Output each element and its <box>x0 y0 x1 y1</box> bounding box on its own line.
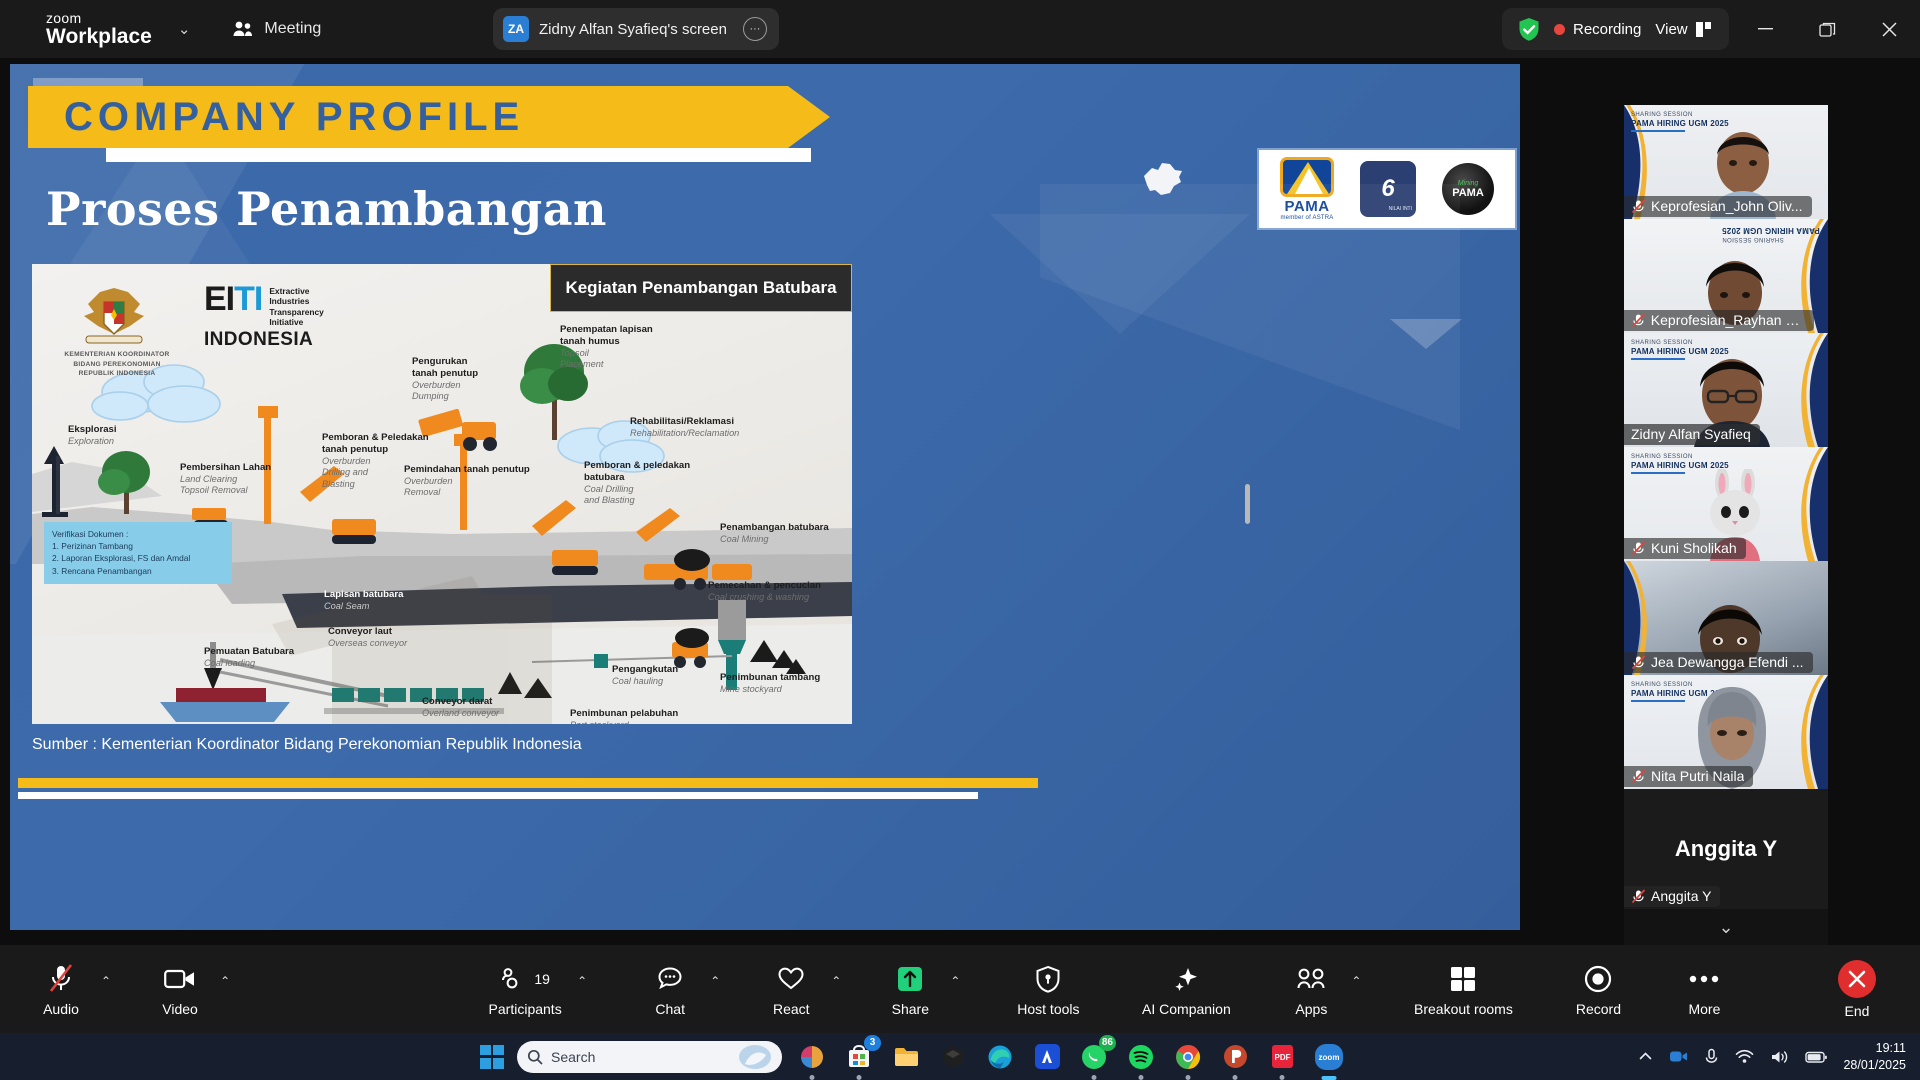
search-icon <box>527 1049 543 1065</box>
participants-group: 19 Participants ⌃ <box>478 962 587 1017</box>
participants-count: 19 <box>534 971 550 987</box>
source-caption: Sumber : Kementerian Koordinator Bidang … <box>32 736 582 754</box>
video-options-caret[interactable]: ⌃ <box>220 974 230 988</box>
tile-name-plate: Jea Dewangga Efendi ... <box>1624 652 1813 673</box>
label-penimbunan-tambang-id: Penimbunan tambang <box>720 672 820 684</box>
file-explorer-icon[interactable] <box>889 1040 923 1074</box>
more-options-icon[interactable]: ··· <box>743 17 767 41</box>
people-icon <box>232 20 254 38</box>
end-call-icon <box>1838 960 1876 998</box>
infographic-banner: Kegiatan Penambangan Batubara <box>550 264 852 312</box>
participant-tile[interactable]: SHARING SESSION PAMA HIRING UGM 2025 Kun… <box>1624 447 1828 561</box>
microphone-muted-icon <box>1631 313 1646 328</box>
ai-companion-label: AI Companion <box>1142 1001 1231 1017</box>
label-penambangan-id: Penambangan batubara <box>720 522 829 534</box>
breakout-rooms-label: Breakout rooms <box>1414 1001 1513 1017</box>
participant-tile[interactable]: SHARING SESSION PAMA HIRING UGM 2025 Nit… <box>1624 675 1828 789</box>
share-chip-label: Zidny Alfan Syafieq's screen <box>539 21 727 38</box>
brand-zoom-text: zoom <box>46 11 152 25</box>
whatsapp-icon[interactable]: 86 <box>1077 1040 1111 1074</box>
svg-text:PDF: PDF <box>1274 1053 1290 1062</box>
session-underline <box>1631 130 1685 132</box>
label-penimbunan-tambang: Penimbunan tambang Mine stockyard <box>720 672 820 695</box>
zoom-icon[interactable]: zoom <box>1312 1040 1346 1074</box>
powerpoint-icon[interactable] <box>1218 1040 1252 1074</box>
brand-swoosh-icon <box>1776 675 1828 789</box>
decor-triangle-2 <box>1390 319 1462 349</box>
participant-name: Keprofesian_Rayhan D... <box>1651 312 1805 328</box>
scroll-grip-handle[interactable] <box>1245 484 1250 524</box>
eiti-acronym: EITI <box>204 284 262 315</box>
recording-dot-icon <box>1554 24 1565 35</box>
zoom-title-bar: zoom Workplace ⌄ Meeting ZA Zidny Alfan … <box>0 0 1920 58</box>
window-controls <box>1734 0 1920 58</box>
participant-name: Zidny Alfan Syafieq <box>1631 426 1751 442</box>
search-placeholder: Search <box>551 1049 595 1065</box>
record-icon <box>1584 962 1612 996</box>
apps-options-caret[interactable]: ⌃ <box>1351 974 1361 988</box>
meeting-tab[interactable]: Meeting <box>232 20 321 38</box>
heart-icon <box>777 962 805 996</box>
label-pemecahan-id: Pemecahan & pencucian <box>708 580 821 592</box>
view-button[interactable]: View <box>1655 21 1712 38</box>
label-conveyor-darat-en: Overland conveyor <box>422 708 499 720</box>
label-conveyor-darat-id: Conveyor darat <box>422 696 499 708</box>
audio-label: Audio <box>43 1001 79 1017</box>
react-options-caret[interactable]: ⌃ <box>831 974 841 988</box>
breakout-rooms-icon <box>1449 962 1477 996</box>
label-pembersihan-en: Land Clearing Topsoil Removal <box>180 474 271 497</box>
autocad-icon[interactable] <box>1030 1040 1064 1074</box>
nilai-inti-logo: 6 NILAI INTI <box>1360 161 1416 217</box>
microphone-muted-icon <box>1631 541 1646 556</box>
end-label: End <box>1845 1003 1870 1019</box>
microphone-muted-icon <box>48 962 74 996</box>
share-options-caret[interactable]: ⌃ <box>950 974 960 988</box>
taskbar-clock[interactable]: 19:11 28/01/2025 <box>1843 1040 1906 1074</box>
audio-button[interactable]: Audio <box>26 962 96 1017</box>
microphone-muted-icon <box>1631 655 1646 670</box>
label-pemuatan-id: Pemuatan Batubara <box>204 646 294 658</box>
share-avatar: ZA <box>503 16 529 42</box>
spotify-icon[interactable] <box>1124 1040 1158 1074</box>
eiti-country: INDONESIA <box>204 329 324 351</box>
react-button[interactable]: React <box>756 962 826 1017</box>
running-indicator <box>1280 1075 1285 1080</box>
photos-icon[interactable] <box>795 1040 829 1074</box>
microphone-muted-icon <box>1631 889 1646 904</box>
label-pemboran-batubara: Pemboran & peledakan batubara Coal Drill… <box>584 460 690 507</box>
record-label: Record <box>1576 1001 1621 1017</box>
participants-label: Participants <box>489 1001 562 1017</box>
battery-icon[interactable] <box>1805 1050 1827 1064</box>
layout-icon <box>1696 22 1713 37</box>
more-label: More <box>1688 1001 1720 1017</box>
label-pemecahan-en: Coal crushing & washing <box>708 592 821 604</box>
label-eksplorasi-id: Eksplorasi <box>68 424 117 436</box>
mining-pama-text: PAMA <box>1452 187 1484 199</box>
session-underline <box>1631 472 1685 474</box>
running-indicator <box>857 1075 862 1080</box>
running-indicator <box>1092 1075 1097 1080</box>
share-label: Share <box>892 1001 929 1017</box>
zoom-tray-icon[interactable] <box>1669 1048 1688 1065</box>
label-penimbunan-tambang-en: Mine stockyard <box>720 684 820 696</box>
brand-swoosh-icon <box>1776 333 1828 447</box>
wifi-icon[interactable] <box>1735 1049 1754 1064</box>
label-pemuatan-en: Coal loading <box>204 658 294 670</box>
mining-top-text: Mining <box>1458 180 1479 187</box>
label-pemboran-batubara-id: Pemboran & peledakan batubara <box>584 460 690 484</box>
apps-icon <box>1296 962 1326 996</box>
svg-text:zoom: zoom <box>1319 1053 1340 1062</box>
participant-video-strip: SHARING SESSION PAMA HIRING UGM 2025 Kep… <box>1624 105 1828 945</box>
label-penambangan-batubara: Penambangan batubara Coal Mining <box>720 522 829 545</box>
participant-name: Jea Dewangga Efendi ... <box>1651 654 1804 670</box>
share-screen-icon <box>895 962 925 996</box>
strip-scroll-down-button[interactable]: ⌄ <box>1624 909 1828 945</box>
label-conveyor-laut-id: Conveyor laut <box>328 626 407 638</box>
volume-icon[interactable] <box>1770 1049 1789 1065</box>
shared-screen-chip[interactable]: ZA Zidny Alfan Syafieq's screen ··· <box>493 8 779 50</box>
show-hidden-icons-button[interactable] <box>1638 1049 1653 1064</box>
running-indicator <box>1139 1075 1144 1080</box>
zoom-meeting-toolbar: Audio ⌃ Video ⌃ 19 <box>0 945 1920 1033</box>
meeting-status-group: Recording View <box>1502 8 1729 50</box>
document-verification-box: Verifikasi Dokumen : 1. Perizinan Tamban… <box>44 522 232 584</box>
microphone-tray-icon[interactable] <box>1704 1048 1719 1066</box>
session-line-2: PAMA HIRING UGM 2025 <box>1722 226 1820 235</box>
chat-button[interactable]: Chat <box>635 962 705 1017</box>
label-penimbunan-pelabuhan: Penimbunan pelabuhan Port stockyard <box>570 708 678 724</box>
apps-label: Apps <box>1295 1001 1327 1017</box>
eiti-logo: EITI ExtractiveIndustriesTransparencyIni… <box>204 284 324 351</box>
chat-group: Chat ⌃ <box>635 962 720 1017</box>
camera-icon <box>164 962 196 996</box>
session-line-1: SHARING SESSION <box>1631 112 1729 119</box>
verification-item-1: 1. Perizinan Tambang <box>52 540 224 552</box>
tile-name-plate: Keprofesian_Rayhan D... <box>1624 310 1814 331</box>
tile-name-plate: Anggita Y <box>1624 886 1720 907</box>
label-pemboran-tanah-id: Pemboran & Peledakan tanah penutup <box>322 432 429 456</box>
host-tools-button[interactable]: Host tools <box>1002 962 1094 1017</box>
participant-tile[interactable]: SHARING SESSION PAMA HIRING UGM 2025 Kep… <box>1624 219 1828 333</box>
label-penempatan-en: Topsoil Placement <box>560 348 653 371</box>
label-penempatan-id: Penempatan lapisan tanah humus <box>560 324 653 348</box>
label-pengurukan-en: Overburden Dumping <box>412 380 478 403</box>
react-group: React ⌃ <box>756 962 841 1017</box>
search-highlight-image <box>738 1044 772 1070</box>
chevron-down-icon: ⌄ <box>1718 917 1733 938</box>
encryption-shield-icon[interactable] <box>1518 17 1540 42</box>
label-pengurukan-id: Pengurukan tanah penutup <box>412 356 478 380</box>
taskbar-apps: Search 3 <box>480 1040 1346 1074</box>
company-profile-banner: COMPANY PROFILE <box>28 86 788 148</box>
clock-time: 19:11 <box>1843 1040 1906 1057</box>
chat-icon <box>657 962 683 996</box>
label-pemecahan: Pemecahan & pencucian Coal crushing & wa… <box>708 580 821 603</box>
infographic-banner-text: Kegiatan Penambangan Batubara <box>565 278 836 298</box>
eiti-expansion: ExtractiveIndustriesTransparencyInitiati… <box>269 284 323 327</box>
nilai-inti-label: NILAI INTI <box>1389 206 1412 212</box>
video-button[interactable]: Video <box>145 962 215 1017</box>
footer-white-bar <box>18 792 978 799</box>
label-pembersihan-id: Pembersihan Lahan <box>180 462 271 474</box>
audio-options-caret[interactable]: ⌃ <box>101 974 111 988</box>
shield-icon <box>1035 962 1061 996</box>
label-conveyor-laut: Conveyor laut Overseas conveyor <box>328 626 407 649</box>
label-eksplorasi: Eksplorasi Exploration <box>68 424 117 447</box>
borneo-map-icon <box>1138 156 1188 202</box>
tile-name-plate: Zidny Alfan Syafieq <box>1624 424 1760 445</box>
label-penimbunan-pel-id: Penimbunan pelabuhan <box>570 708 678 720</box>
presentation-slide: COMPANY PROFILE Proses Penambangan PAMA … <box>10 64 1520 930</box>
verification-title: Verifikasi Dokumen : <box>52 528 224 540</box>
recording-label: Recording <box>1573 21 1641 38</box>
more-dots-icon <box>1688 962 1720 996</box>
store-badge-count: 3 <box>864 1035 881 1051</box>
view-label: View <box>1655 21 1687 38</box>
participant-display-name: Anggita Y <box>1675 836 1777 862</box>
pama-logo-subtext: member of ASTRA <box>1280 215 1333 221</box>
participant-name: Anggita Y <box>1651 888 1711 904</box>
edge-icon[interactable] <box>983 1040 1017 1074</box>
running-indicator <box>810 1075 815 1080</box>
logo-box: PAMA member of ASTRA 6 NILAI INTI Mining… <box>1257 148 1517 230</box>
participant-name: Kuni Sholikah <box>1651 540 1737 556</box>
zoom-workplace-logo: zoom Workplace <box>46 11 152 47</box>
participant-tile[interactable]: Anggita Y Anggita Y <box>1624 789 1828 909</box>
session-line-1: SHARING SESSION <box>1631 454 1729 461</box>
ai-companion-button[interactable]: AI Companion <box>1130 962 1242 1017</box>
chrome-icon[interactable] <box>1171 1040 1205 1074</box>
label-conveyor-laut-en: Overseas conveyor <box>328 638 407 650</box>
react-label: React <box>773 1001 810 1017</box>
label-pemboran-batubara-en: Coal Drilling and Blasting <box>584 484 690 507</box>
meeting-label: Meeting <box>264 20 321 38</box>
label-eksplorasi-en: Exploration <box>68 436 117 448</box>
session-line-1: SHARING SESSION <box>1722 235 1820 242</box>
label-conveyor-darat: Conveyor darat Overland conveyor <box>422 696 499 719</box>
tile-name-plate: Nita Putri Naila <box>1624 766 1753 787</box>
brand-swoosh-icon <box>1776 447 1828 561</box>
windows-taskbar: Search 3 <box>0 1033 1920 1080</box>
whatsapp-badge-count: 86 <box>1099 1035 1116 1051</box>
search-input[interactable]: Search <box>517 1041 782 1073</box>
pama-logo: PAMA member of ASTRA <box>1280 157 1334 221</box>
more-button[interactable]: More <box>1669 962 1739 1017</box>
label-rehabilitasi-en: Rehabilitation/Reclamation <box>630 428 739 440</box>
record-button[interactable]: Record <box>1557 962 1639 1017</box>
label-pengangkutan: Pengangkutan Coal hauling <box>612 664 678 687</box>
label-pengangkutan-id: Pengangkutan <box>612 664 678 676</box>
brand-workplace-text: Workplace <box>46 26 152 47</box>
mining-process-infographic: Kegiatan Penambangan Batubara KEMENTERIA… <box>32 264 852 724</box>
label-pengangkutan-en: Coal hauling <box>612 676 678 688</box>
shared-screen-stage: COMPANY PROFILE Proses Penambangan PAMA … <box>10 58 1520 928</box>
mining-pama-logo: Mining PAMA <box>1442 163 1494 215</box>
banner-arrow-tip <box>788 86 830 148</box>
footer-yellow-bar <box>18 778 1038 788</box>
minimize-button[interactable] <box>1734 0 1796 58</box>
apps-group: Apps ⌃ <box>1276 962 1361 1017</box>
label-pemuatan-batubara: Pemuatan Batubara Coal loading <box>204 646 294 669</box>
chat-label: Chat <box>655 1001 685 1017</box>
tile-name-plate: Kuni Sholikah <box>1624 538 1746 559</box>
banner-white-underline <box>106 148 811 162</box>
participant-name: Nita Putri Naila <box>1651 768 1744 784</box>
audio-group: Audio ⌃ <box>26 962 111 1017</box>
running-indicator <box>1233 1075 1238 1080</box>
running-indicator <box>1186 1075 1191 1080</box>
clock-date: 28/01/2025 <box>1843 1057 1906 1074</box>
label-pemindahan: Pemindahan tanah penutup Overburden Remo… <box>404 464 530 499</box>
participant-name: Keprofesian_John Oliv... <box>1651 198 1803 214</box>
active-window-indicator <box>1322 1076 1337 1080</box>
label-penimbunan-pel-en: Port stockyard <box>570 720 678 724</box>
ministry-caption: KEMENTERIAN KOORDINATORBIDANG PEREKONOMI… <box>42 350 192 379</box>
share-group: Share ⌃ <box>875 962 960 1017</box>
label-lapisan-id: Lapisan batubara <box>324 589 403 601</box>
verification-item-3: 3. Rencana Penambangan <box>52 565 224 577</box>
microsoft-store-icon[interactable]: 3 <box>842 1040 876 1074</box>
video-group: Video ⌃ <box>145 962 230 1017</box>
label-rehabilitasi-id: Rehabilitasi/Reklamasi <box>630 416 739 428</box>
banner-yellow-bar: COMPANY PROFILE <box>28 86 788 148</box>
system-tray: 19:11 28/01/2025 <box>1638 1040 1906 1074</box>
breakout-rooms-button[interactable]: Breakout rooms <box>1395 962 1531 1017</box>
tile-session-header: SHARING SESSION PAMA HIRING UGM 2025 <box>1722 226 1820 242</box>
chevron-down-icon[interactable]: ⌄ <box>178 20 191 38</box>
pama-mark-icon <box>1280 157 1334 197</box>
close-button[interactable] <box>1858 0 1920 58</box>
tile-name-plate: Keprofesian_John Oliv... <box>1624 196 1812 217</box>
participants-icon: 19 <box>500 962 550 996</box>
decor-triangle-1 <box>990 214 1250 334</box>
label-lapisan-en: Coal Seam <box>324 601 403 613</box>
pama-logo-text: PAMA <box>1284 198 1329 215</box>
company-profile-text: COMPANY PROFILE <box>64 95 524 140</box>
label-penempatan-humus: Penempatan lapisan tanah humus Topsoil P… <box>560 324 653 371</box>
recording-indicator[interactable]: Recording <box>1554 21 1641 38</box>
unity-icon[interactable] <box>936 1040 970 1074</box>
chat-options-caret[interactable]: ⌃ <box>710 974 720 988</box>
session-underline <box>1631 358 1685 360</box>
participants-options-caret[interactable]: ⌃ <box>577 974 587 988</box>
microphone-muted-icon <box>1631 769 1646 784</box>
slide-heading: Proses Penambangan <box>46 182 607 236</box>
participants-button[interactable]: 19 Participants <box>478 962 572 1017</box>
host-tools-label: Host tools <box>1017 1001 1079 1017</box>
label-pengurukan: Pengurukan tanah penutup Overburden Dump… <box>412 356 478 403</box>
apps-button[interactable]: Apps <box>1276 962 1346 1017</box>
restore-button[interactable] <box>1796 0 1858 58</box>
microphone-muted-icon <box>1631 199 1646 214</box>
participant-tile-active[interactable]: SHARING SESSION PAMA HIRING UGM 2025 Zid… <box>1624 333 1828 447</box>
label-pembersihan-lahan: Pembersihan Lahan Land Clearing Topsoil … <box>180 462 271 497</box>
label-penambangan-en: Coal Mining <box>720 534 829 546</box>
verification-item-2: 2. Laporan Eksplorasi, FS dan Amdal <box>52 552 224 564</box>
label-pemindahan-en: Overburden Removal <box>404 476 530 499</box>
pdf-icon[interactable]: PDF <box>1265 1040 1299 1074</box>
garuda-emblem-icon <box>78 282 150 348</box>
windows-start-icon[interactable] <box>480 1045 504 1069</box>
label-lapisan-batubara: Lapisan batubara Coal Seam <box>324 589 403 612</box>
nilai-inti-number: 6 <box>1381 175 1394 203</box>
participant-tile[interactable]: SHARING SESSION PAMA HIRING UGM 2025 Kep… <box>1624 105 1828 219</box>
session-underline <box>1631 700 1685 702</box>
participant-tile[interactable]: Jea Dewangga Efendi ... <box>1624 561 1828 675</box>
share-button[interactable]: Share <box>875 962 945 1017</box>
end-meeting-button[interactable]: End <box>1838 960 1876 1019</box>
sparkle-icon <box>1172 962 1200 996</box>
label-rehabilitasi: Rehabilitasi/Reklamasi Rehabilitation/Re… <box>630 416 739 439</box>
video-label: Video <box>162 1001 198 1017</box>
label-pemindahan-id: Pemindahan tanah penutup <box>404 464 530 476</box>
